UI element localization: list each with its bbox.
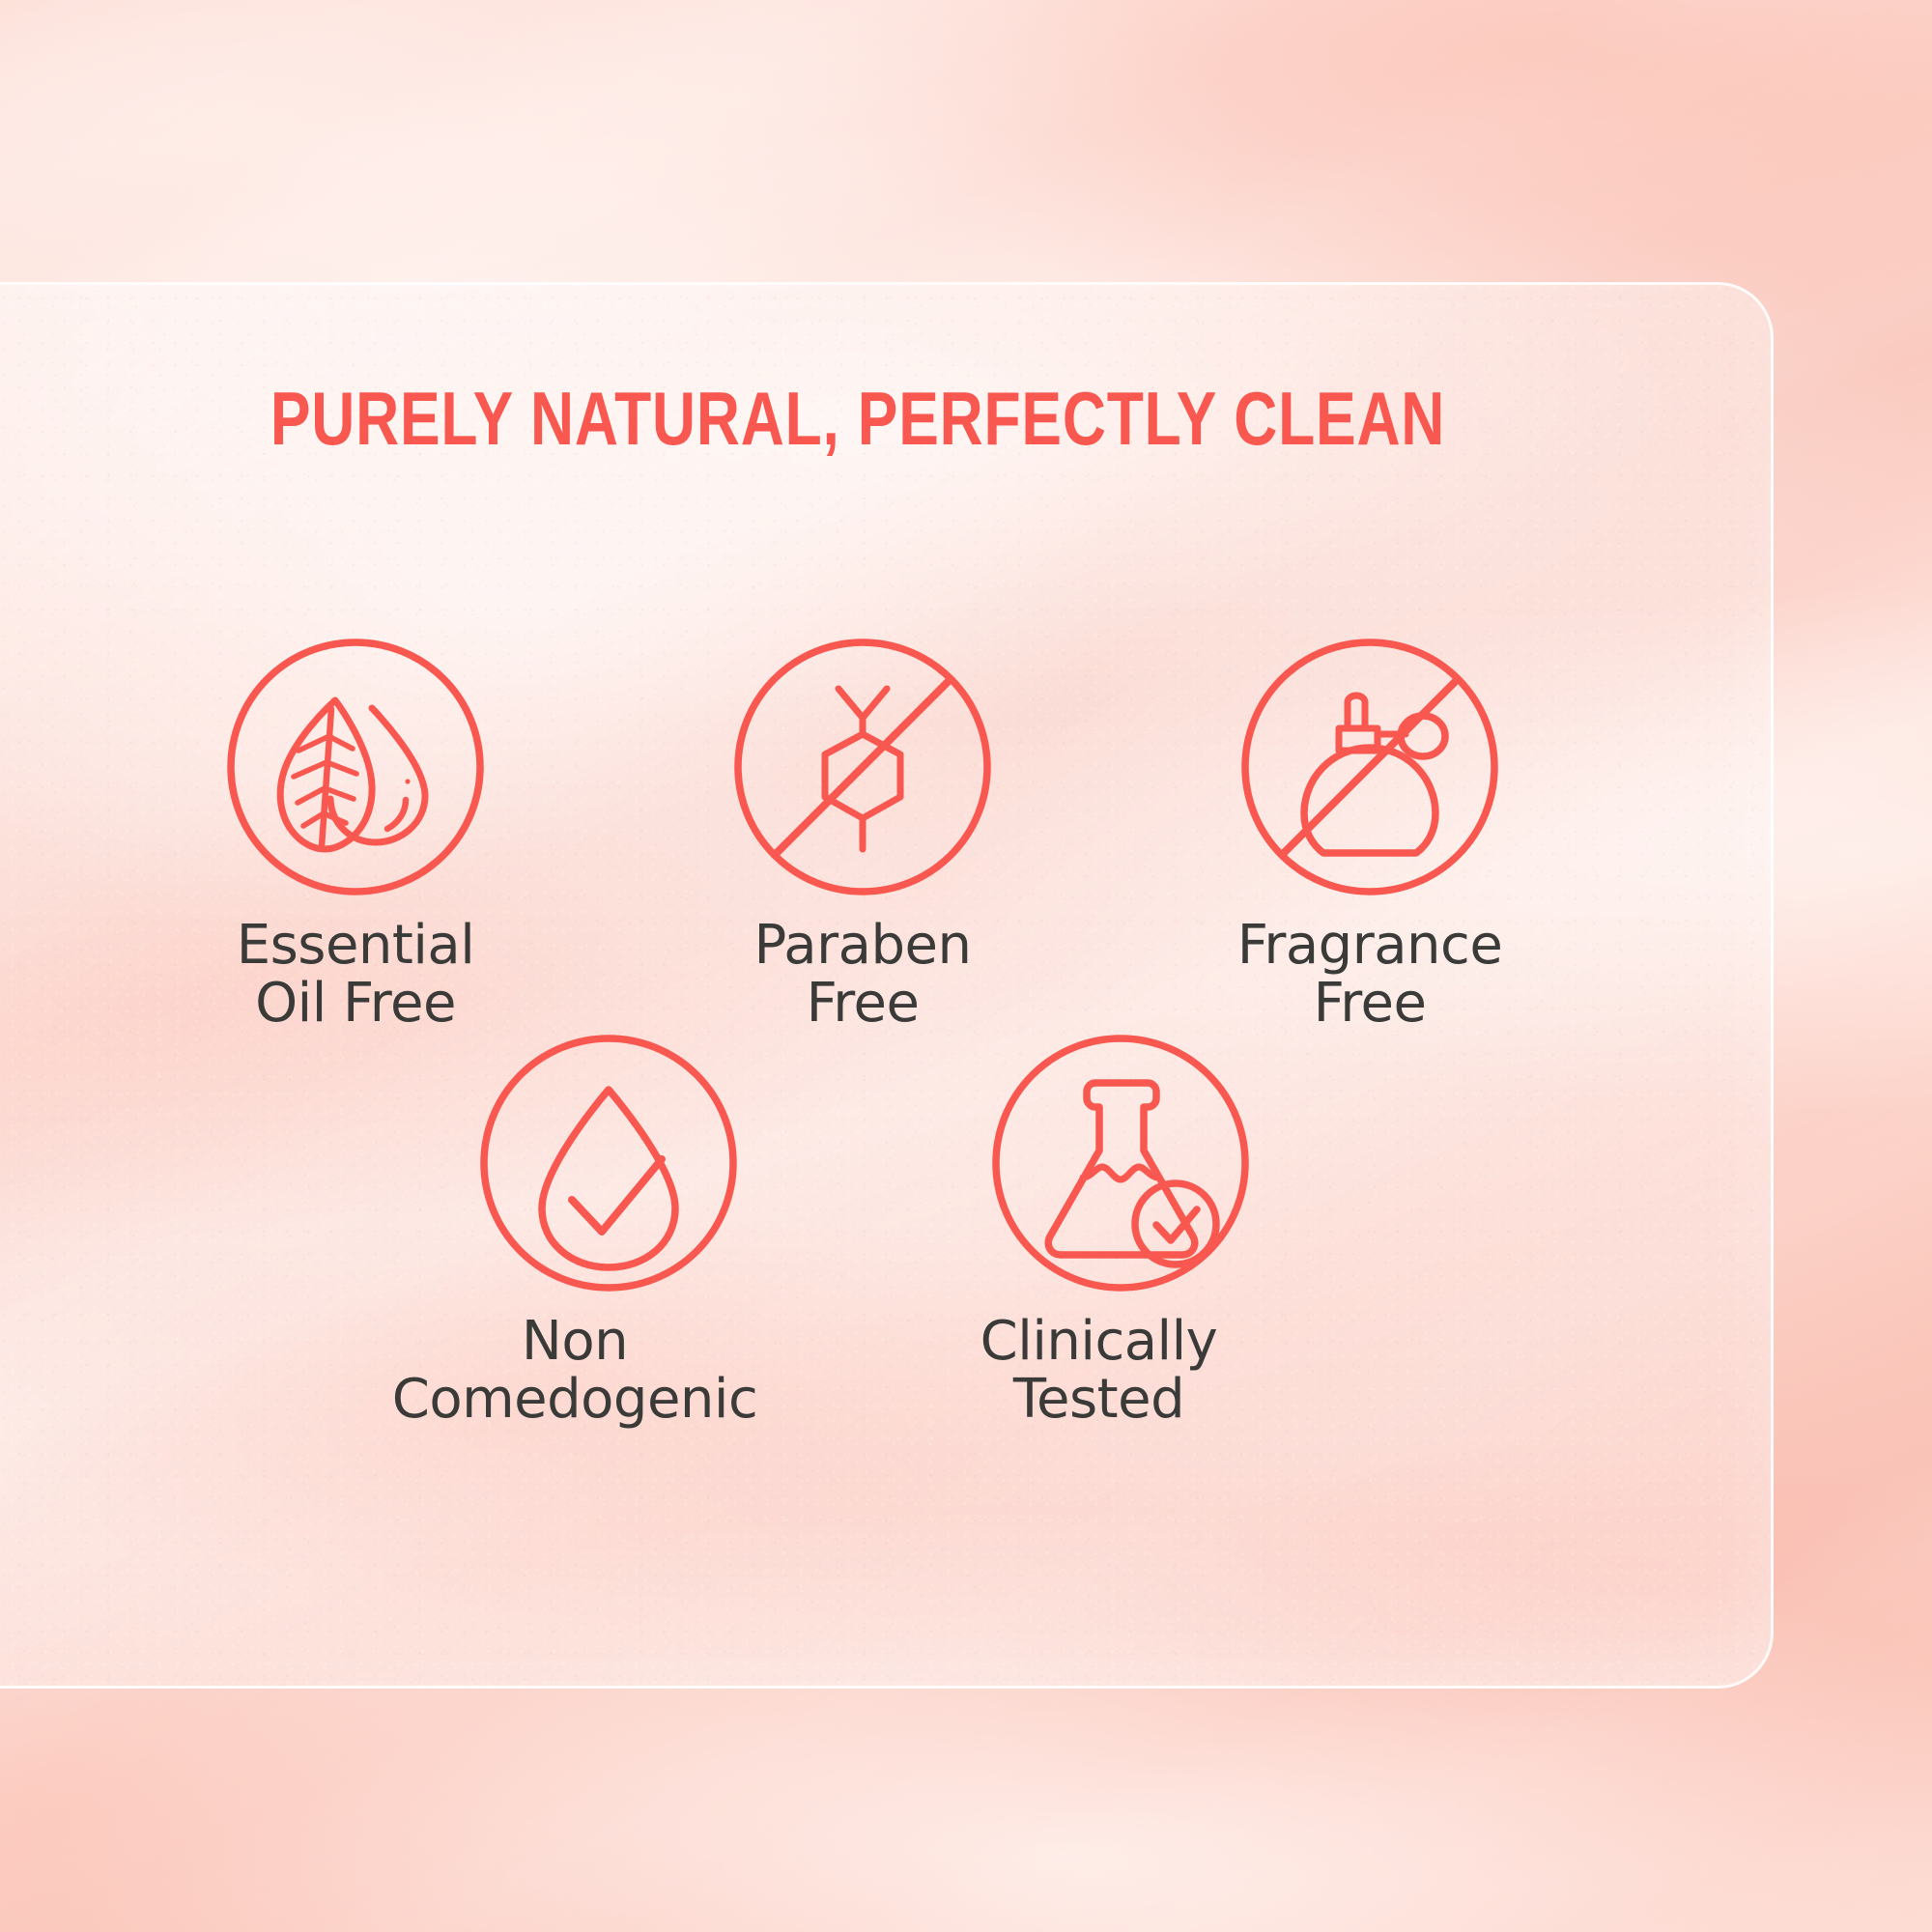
droplet-check-icon xyxy=(480,1035,737,1292)
badge-label: Essential Oil Free xyxy=(237,917,475,1034)
badge-essential-oil-free[interactable]: Essential Oil Free xyxy=(196,639,515,1034)
badge-label: Paraben Free xyxy=(754,917,972,1034)
badge-paraben-free[interactable]: Paraben Free xyxy=(703,639,1022,1034)
badge-label: Fragrance Free xyxy=(1167,917,1573,1034)
glass-panel: PURELY NATURAL, PERFECTLY CLEAN xyxy=(0,282,1774,1689)
perfume-bottle-no-slash-icon xyxy=(1241,639,1498,895)
badge-fragrance-free[interactable]: Fragrance Free xyxy=(1210,639,1529,1034)
badge-non-comedogenic[interactable]: Non Comedogenic xyxy=(449,1035,768,1430)
badge-label: Non Comedogenic xyxy=(348,1313,802,1430)
poster-canvas: PURELY NATURAL, PERFECTLY CLEAN xyxy=(0,0,1932,1932)
badge-grid: Essential Oil Free xyxy=(3,285,1771,1686)
leaf-droplet-icon xyxy=(227,639,484,895)
badge-clinically-tested[interactable]: Clinically Tested xyxy=(961,1035,1280,1430)
molecule-no-slash-icon xyxy=(734,639,991,895)
flask-check-icon xyxy=(992,1035,1249,1292)
badge-label: Clinically Tested xyxy=(896,1313,1302,1430)
